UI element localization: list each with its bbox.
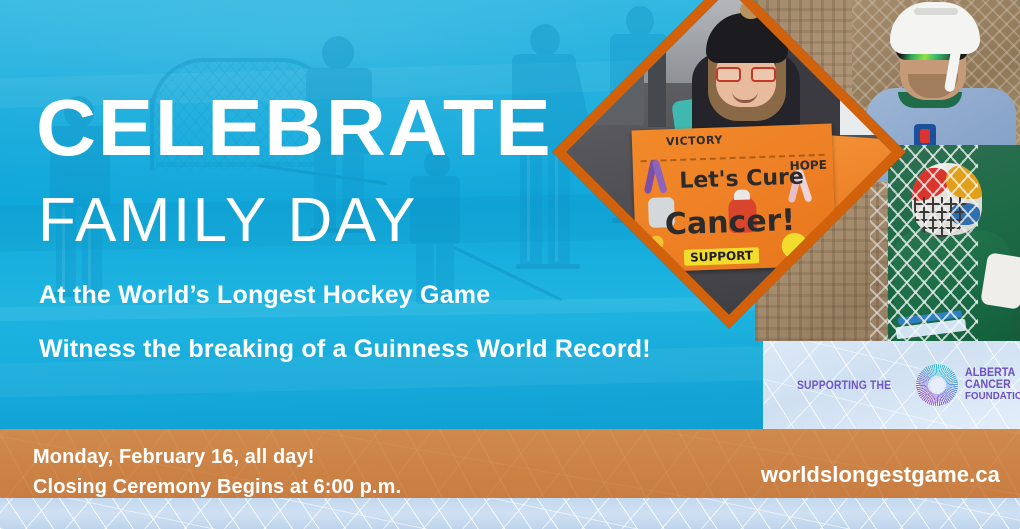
- sign-word-victory: VICTORY: [666, 133, 723, 148]
- photo-goalie-green-jersey: [888, 145, 1020, 341]
- website-url[interactable]: worldslongestgame.ca: [761, 462, 1000, 488]
- supporting-the-label: SUPPORTING THE: [797, 378, 891, 392]
- eyeglasses-icon: [716, 67, 776, 82]
- event-date-line-2: Closing Ceremony Begins at 6:00 p.m.: [33, 476, 401, 499]
- family-day-promo-poster: CELEBRATE FAMILY DAY At the World’s Long…: [0, 0, 1020, 529]
- handmade-cancer-sign: VICTORY HOPE SUPPORT FAM Let's Cure Canc…: [632, 124, 837, 273]
- net-mesh-foreground: [888, 145, 978, 341]
- alberta-cancer-foundation-wordmark: ALBERTA CANCER FOUNDATION: [965, 368, 1020, 402]
- event-subheading-venue: At the World’s Longest Hockey Game: [39, 280, 490, 310]
- sign-word-support: SUPPORT: [684, 247, 760, 266]
- awareness-ribbon-icon: [647, 159, 664, 194]
- sign-text-line-1: Let's Cure: [679, 165, 804, 194]
- page-subtitle: FAMILY DAY: [38, 190, 418, 252]
- alberta-cancer-foundation-ring-logo: [916, 364, 958, 406]
- page-title: CELEBRATE: [36, 88, 552, 168]
- sign-text-line-2: Cancer!: [664, 203, 795, 243]
- sponsor-name-line-3: FOUNDATION: [965, 391, 1020, 402]
- event-subheading-record: Witness the breaking of a Guinness World…: [39, 334, 651, 364]
- event-date-line-1: Monday, February 16, all day!: [33, 446, 315, 469]
- sponsor-panel: SUPPORTING THE ALBERTA CANCER FOUNDATION: [763, 341, 1020, 429]
- bottom-ice-strip: [0, 498, 1020, 529]
